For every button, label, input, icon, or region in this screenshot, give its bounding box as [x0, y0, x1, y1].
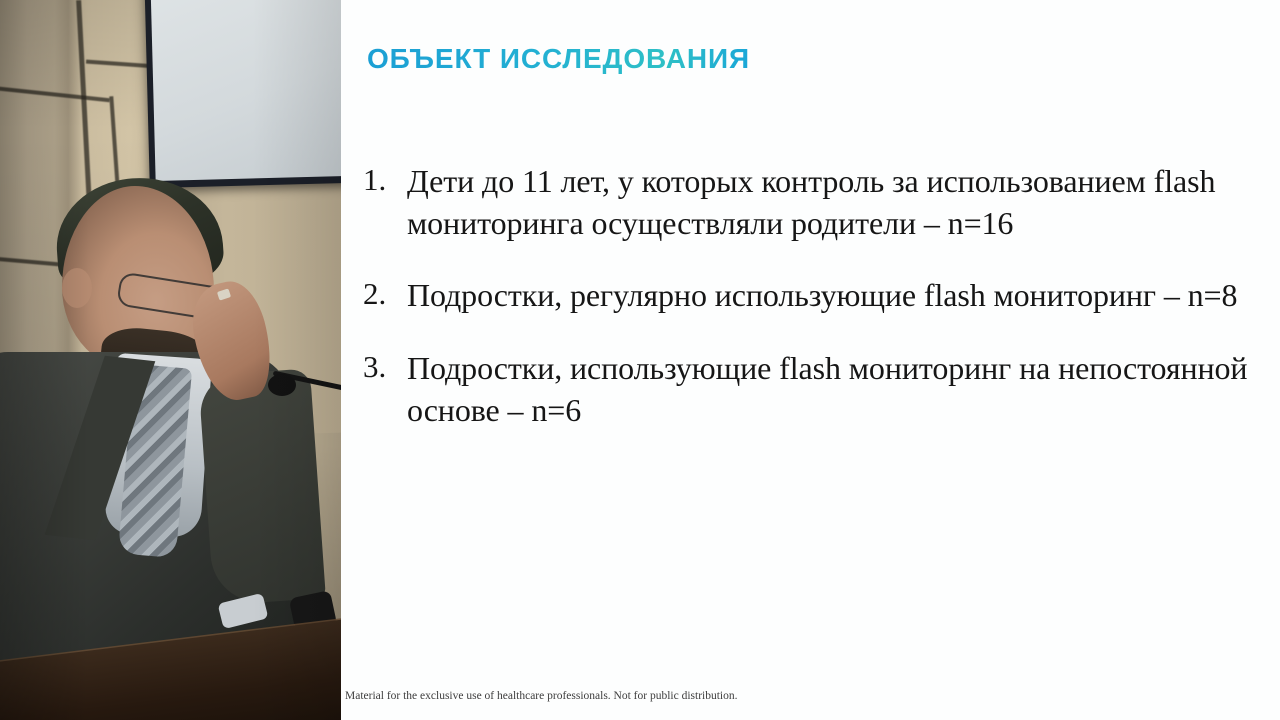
list-item-number: 3.: [363, 347, 407, 388]
list-item-text: Подростки, регулярно использующие flash …: [407, 274, 1253, 316]
microphone-icon: [268, 374, 296, 396]
projection-screen-surface: [150, 0, 341, 181]
list-item-number: 2.: [363, 274, 407, 315]
presentation-screenshot: ОБЪЕКТ ИССЛЕДОВАНИЯ 1. Дети до 11 лет, у…: [0, 0, 1280, 720]
list-item: 2. Подростки, регулярно использующие fla…: [363, 274, 1253, 316]
slide-disclaimer-footer: Material for the exclusive use of health…: [345, 690, 737, 702]
projection-screen: [144, 0, 341, 188]
list-item-text: Дети до 11 лет, у которых контроль за ис…: [407, 160, 1253, 244]
slide-content-pane: ОБЪЕКТ ИССЛЕДОВАНИЯ 1. Дети до 11 лет, у…: [341, 0, 1280, 720]
list-item: 3. Подростки, использующие flash монитор…: [363, 347, 1253, 431]
research-object-list: 1. Дети до 11 лет, у которых контроль за…: [363, 160, 1253, 461]
slide-title: ОБЪЕКТ ИССЛЕДОВАНИЯ: [367, 43, 750, 75]
list-item-number: 1.: [363, 160, 407, 201]
speaker-right-arm: [198, 368, 326, 605]
speaker-ear: [62, 268, 92, 308]
list-item: 1. Дети до 11 лет, у которых контроль за…: [363, 160, 1253, 244]
list-item-text: Подростки, использующие flash мониторинг…: [407, 347, 1253, 431]
speaker-camera-feed: [0, 0, 341, 720]
